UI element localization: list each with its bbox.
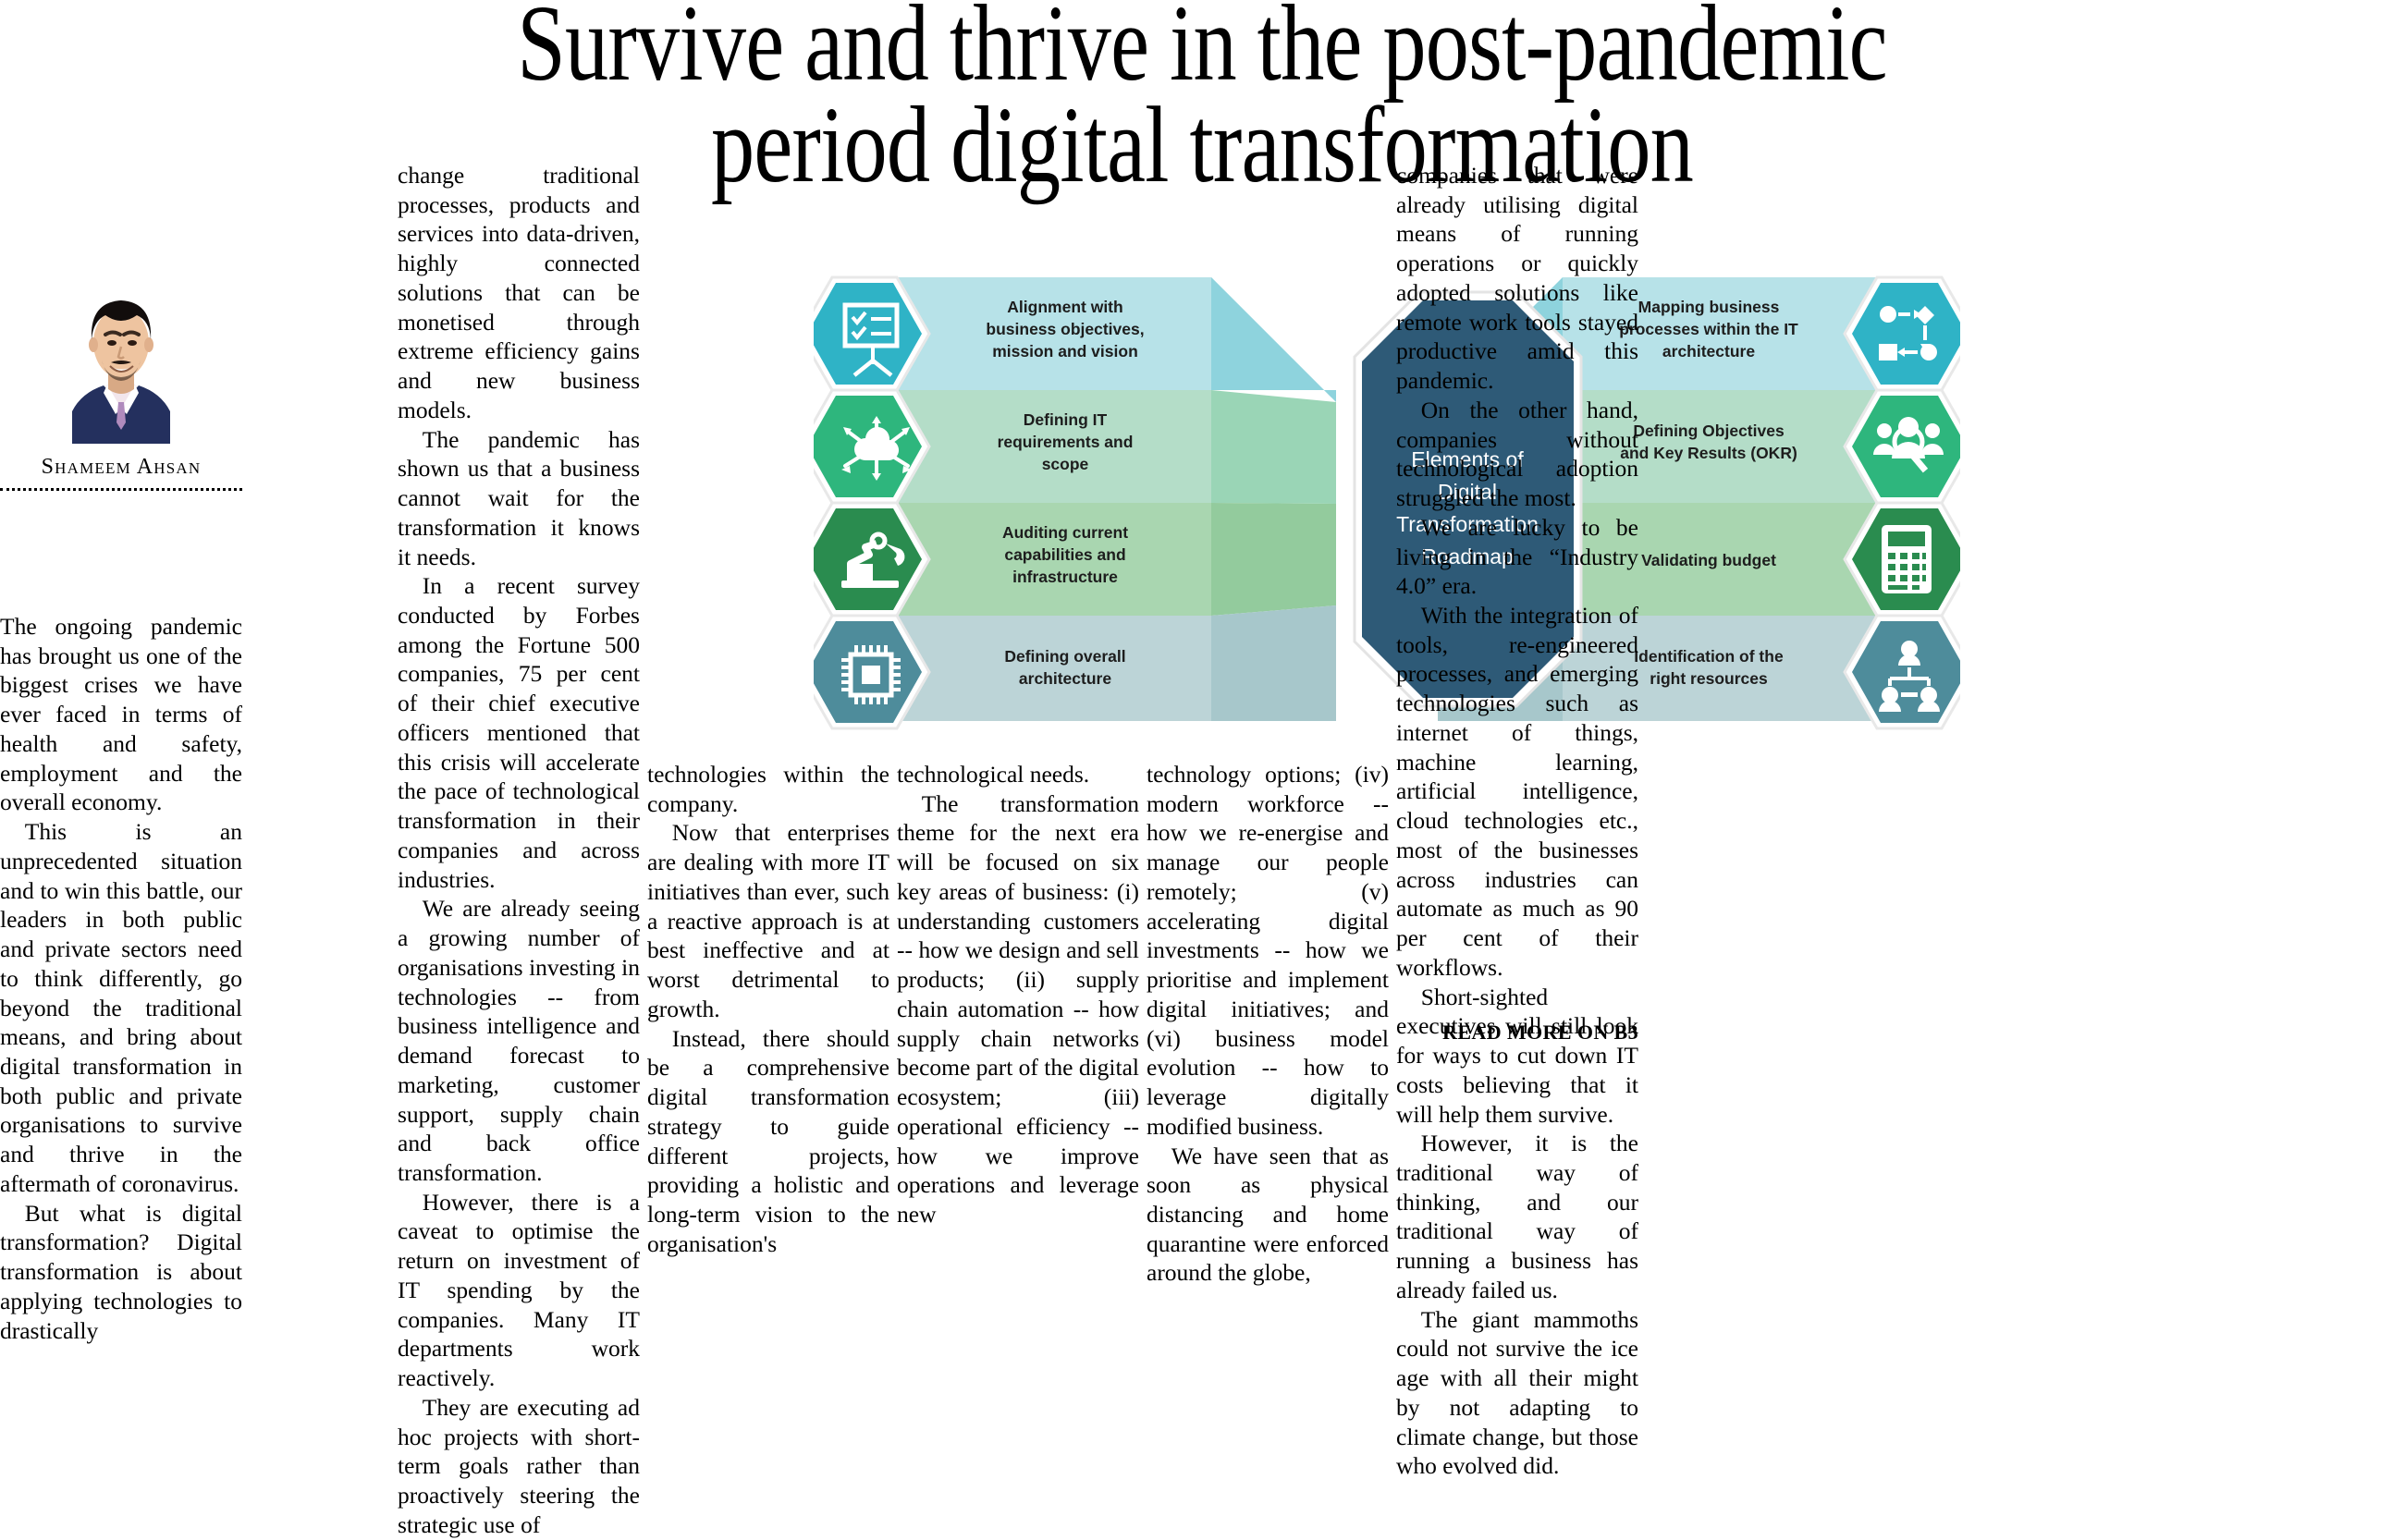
- divider-dotted: [0, 488, 242, 491]
- paragraph: Now that enterprises are dealing with mo…: [647, 818, 889, 1023]
- author-block: Shameem Ahsan: [0, 263, 242, 491]
- svg-text:Mapping business: Mapping business: [1638, 298, 1780, 316]
- svg-text:mission and vision: mission and vision: [992, 342, 1138, 361]
- paragraph: However, there is a caveat to optimise t…: [398, 1188, 640, 1393]
- paragraph: We are already seeing a growing number o…: [398, 894, 640, 1187]
- svg-text:capabilities and: capabilities and: [1004, 545, 1125, 564]
- paragraph: The giant mammoths could not survive the…: [1396, 1305, 1638, 1481]
- read-more-link[interactable]: READ MORE ON B3: [1396, 1021, 1638, 1045]
- paragraph: In a recent survey conducted by Forbes a…: [398, 571, 640, 894]
- svg-text:Alignment with: Alignment with: [1007, 298, 1122, 316]
- svg-text:infrastructure: infrastructure: [1012, 568, 1118, 586]
- svg-text:business objectives,: business objectives,: [986, 320, 1144, 338]
- paragraph: The pandemic has shown us that a busines…: [398, 425, 640, 572]
- paragraph: Instead, there should be a comprehensive…: [647, 1024, 889, 1259]
- paragraph: companies that were already utilising di…: [1396, 161, 1638, 396]
- article-column-4: technological needs. The transformation …: [897, 760, 1139, 1229]
- paragraph: change traditional processes, products a…: [398, 161, 640, 425]
- paragraph: This is an unprecedented situation and t…: [0, 817, 242, 1199]
- avatar: [65, 263, 178, 444]
- paragraph: technological needs.: [897, 760, 1139, 789]
- calculator-icon: [1882, 525, 1932, 593]
- svg-text:Auditing current: Auditing current: [1002, 523, 1128, 542]
- paragraph: Short-sighted executives will still look…: [1396, 983, 1638, 1130]
- author-name: Shameem Ahsan: [0, 455, 242, 480]
- paragraph: We are lucky to be living in the “Indust…: [1396, 513, 1638, 601]
- paragraph: The ongoing pandemic has brought us one …: [0, 612, 242, 817]
- svg-text:Defining Objectives: Defining Objectives: [1633, 422, 1785, 440]
- hex-right-label-3: Validating budget: [1641, 551, 1776, 569]
- hex-left-label-1: Alignment with business objectives, miss…: [986, 298, 1144, 361]
- svg-text:processes within the IT: processes within the IT: [1619, 320, 1798, 338]
- article-column-5: technology options; (iv) modern workforc…: [1147, 760, 1389, 1288]
- svg-text:architecture: architecture: [1019, 669, 1111, 688]
- paragraph: We have seen that as soon as physical di…: [1147, 1142, 1389, 1289]
- article-column-6: companies that were already utilising di…: [1396, 161, 1638, 1481]
- article-column-3: technologies within the company. Now tha…: [647, 760, 889, 1258]
- svg-text:Defining overall: Defining overall: [1004, 647, 1125, 666]
- svg-text:right resources: right resources: [1650, 669, 1768, 688]
- svg-text:requirements and: requirements and: [998, 433, 1134, 451]
- svg-text:Defining IT: Defining IT: [1024, 410, 1108, 429]
- svg-text:and Key Results (OKR): and Key Results (OKR): [1620, 444, 1797, 462]
- svg-text:Validating budget: Validating budget: [1641, 551, 1776, 569]
- cpu-chip-icon: [841, 645, 901, 704]
- paragraph: They are executing ad hoc projects with …: [398, 1393, 640, 1540]
- paragraph: But what is digital transformation? Digi…: [0, 1199, 242, 1346]
- digital-transformation-roadmap-infographic: Elements of Digital Transformation Roadm…: [814, 268, 1960, 730]
- paragraph: With the integration of tools, re-engine…: [1396, 601, 1638, 983]
- paragraph: technologies within the company.: [647, 760, 889, 818]
- article-column-2: change traditional processes, products a…: [398, 161, 640, 1540]
- article-column-1: The ongoing pandemic has brought us one …: [0, 612, 242, 1345]
- svg-text:architecture: architecture: [1662, 342, 1755, 361]
- hex-left-label-3: Auditing current capabilities and infras…: [1002, 523, 1128, 586]
- svg-text:Identification of the: Identification of the: [1634, 647, 1784, 666]
- svg-text:scope: scope: [1042, 455, 1089, 473]
- paragraph: On the other hand, companies without tec…: [1396, 396, 1638, 513]
- paragraph: The transformation theme for the next er…: [897, 789, 1139, 1229]
- paragraph: technology options; (iv) modern workforc…: [1147, 760, 1389, 1142]
- paragraph: However, it is the traditional way of th…: [1396, 1129, 1638, 1304]
